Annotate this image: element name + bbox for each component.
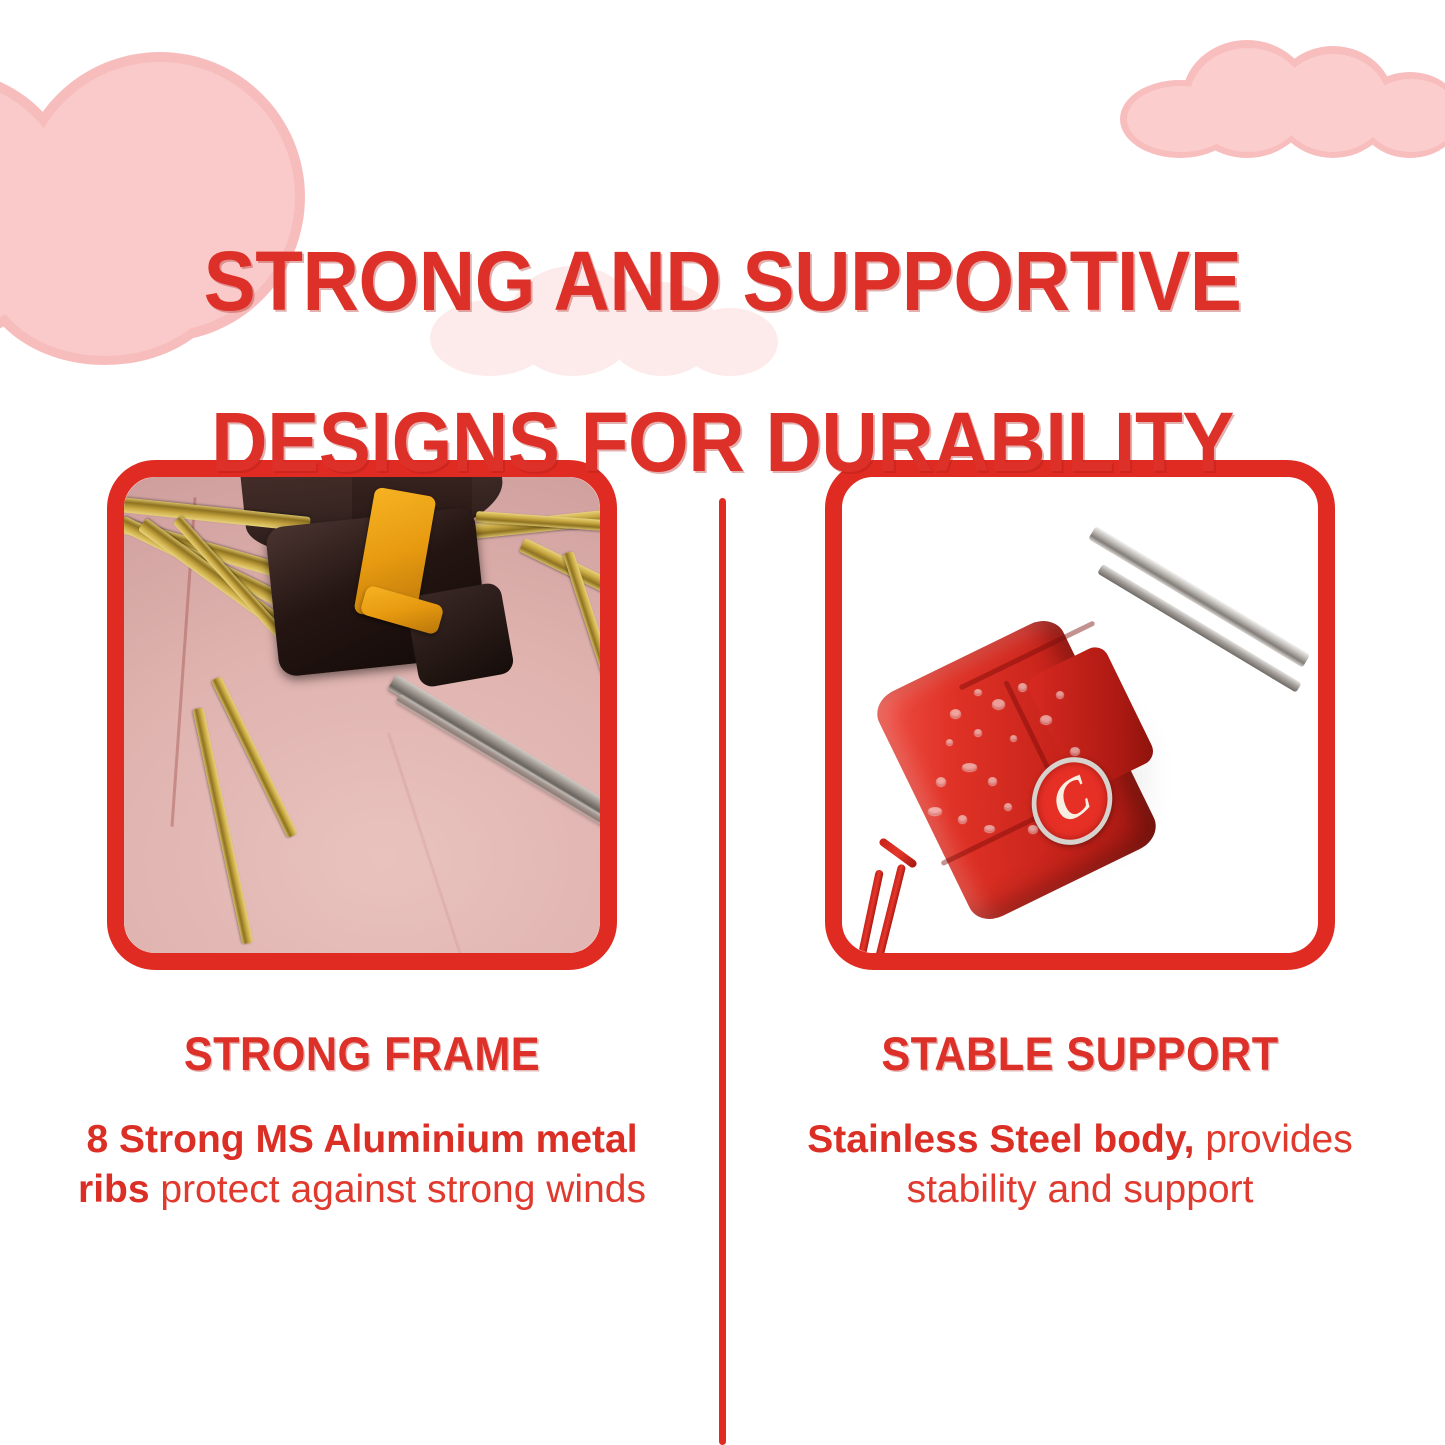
page-title: STRONG AND SUPPORTIVE DESIGNS FOR DURABI… [51,160,1395,563]
feature-description-rest-strong-frame: protect against strong winds [150,1168,646,1211]
vertical-divider [719,498,726,1445]
infographic-page: STRONG AND SUPPORTIVE DESIGNS FOR DURABI… [0,0,1445,1445]
page-title-line-2: DESIGNS FOR DURABILITY [51,402,1395,483]
cloud-decoration-top-right [1120,38,1445,158]
feature-title-stable-support: STABLE SUPPORT [795,1026,1365,1081]
brand-logo-glyph: C [1044,765,1098,833]
feature-description-bold-stable-support: Stainless Steel body, [807,1118,1194,1161]
feature-title-strong-frame: STRONG FRAME [77,1026,647,1081]
feature-column-strong-frame: STRONG FRAME 8 Strong MS Aluminium metal… [52,460,672,1215]
feature-column-stable-support: C STABLE SUPPORT Stainless Steel body, p… [770,460,1390,1215]
feature-description-stable-support: Stainless Steel body, provides stability… [770,1115,1390,1215]
feature-description-strong-frame: 8 Strong MS Aluminium metal ribs protect… [52,1115,672,1215]
page-title-line-1: STRONG AND SUPPORTIVE [51,241,1395,322]
